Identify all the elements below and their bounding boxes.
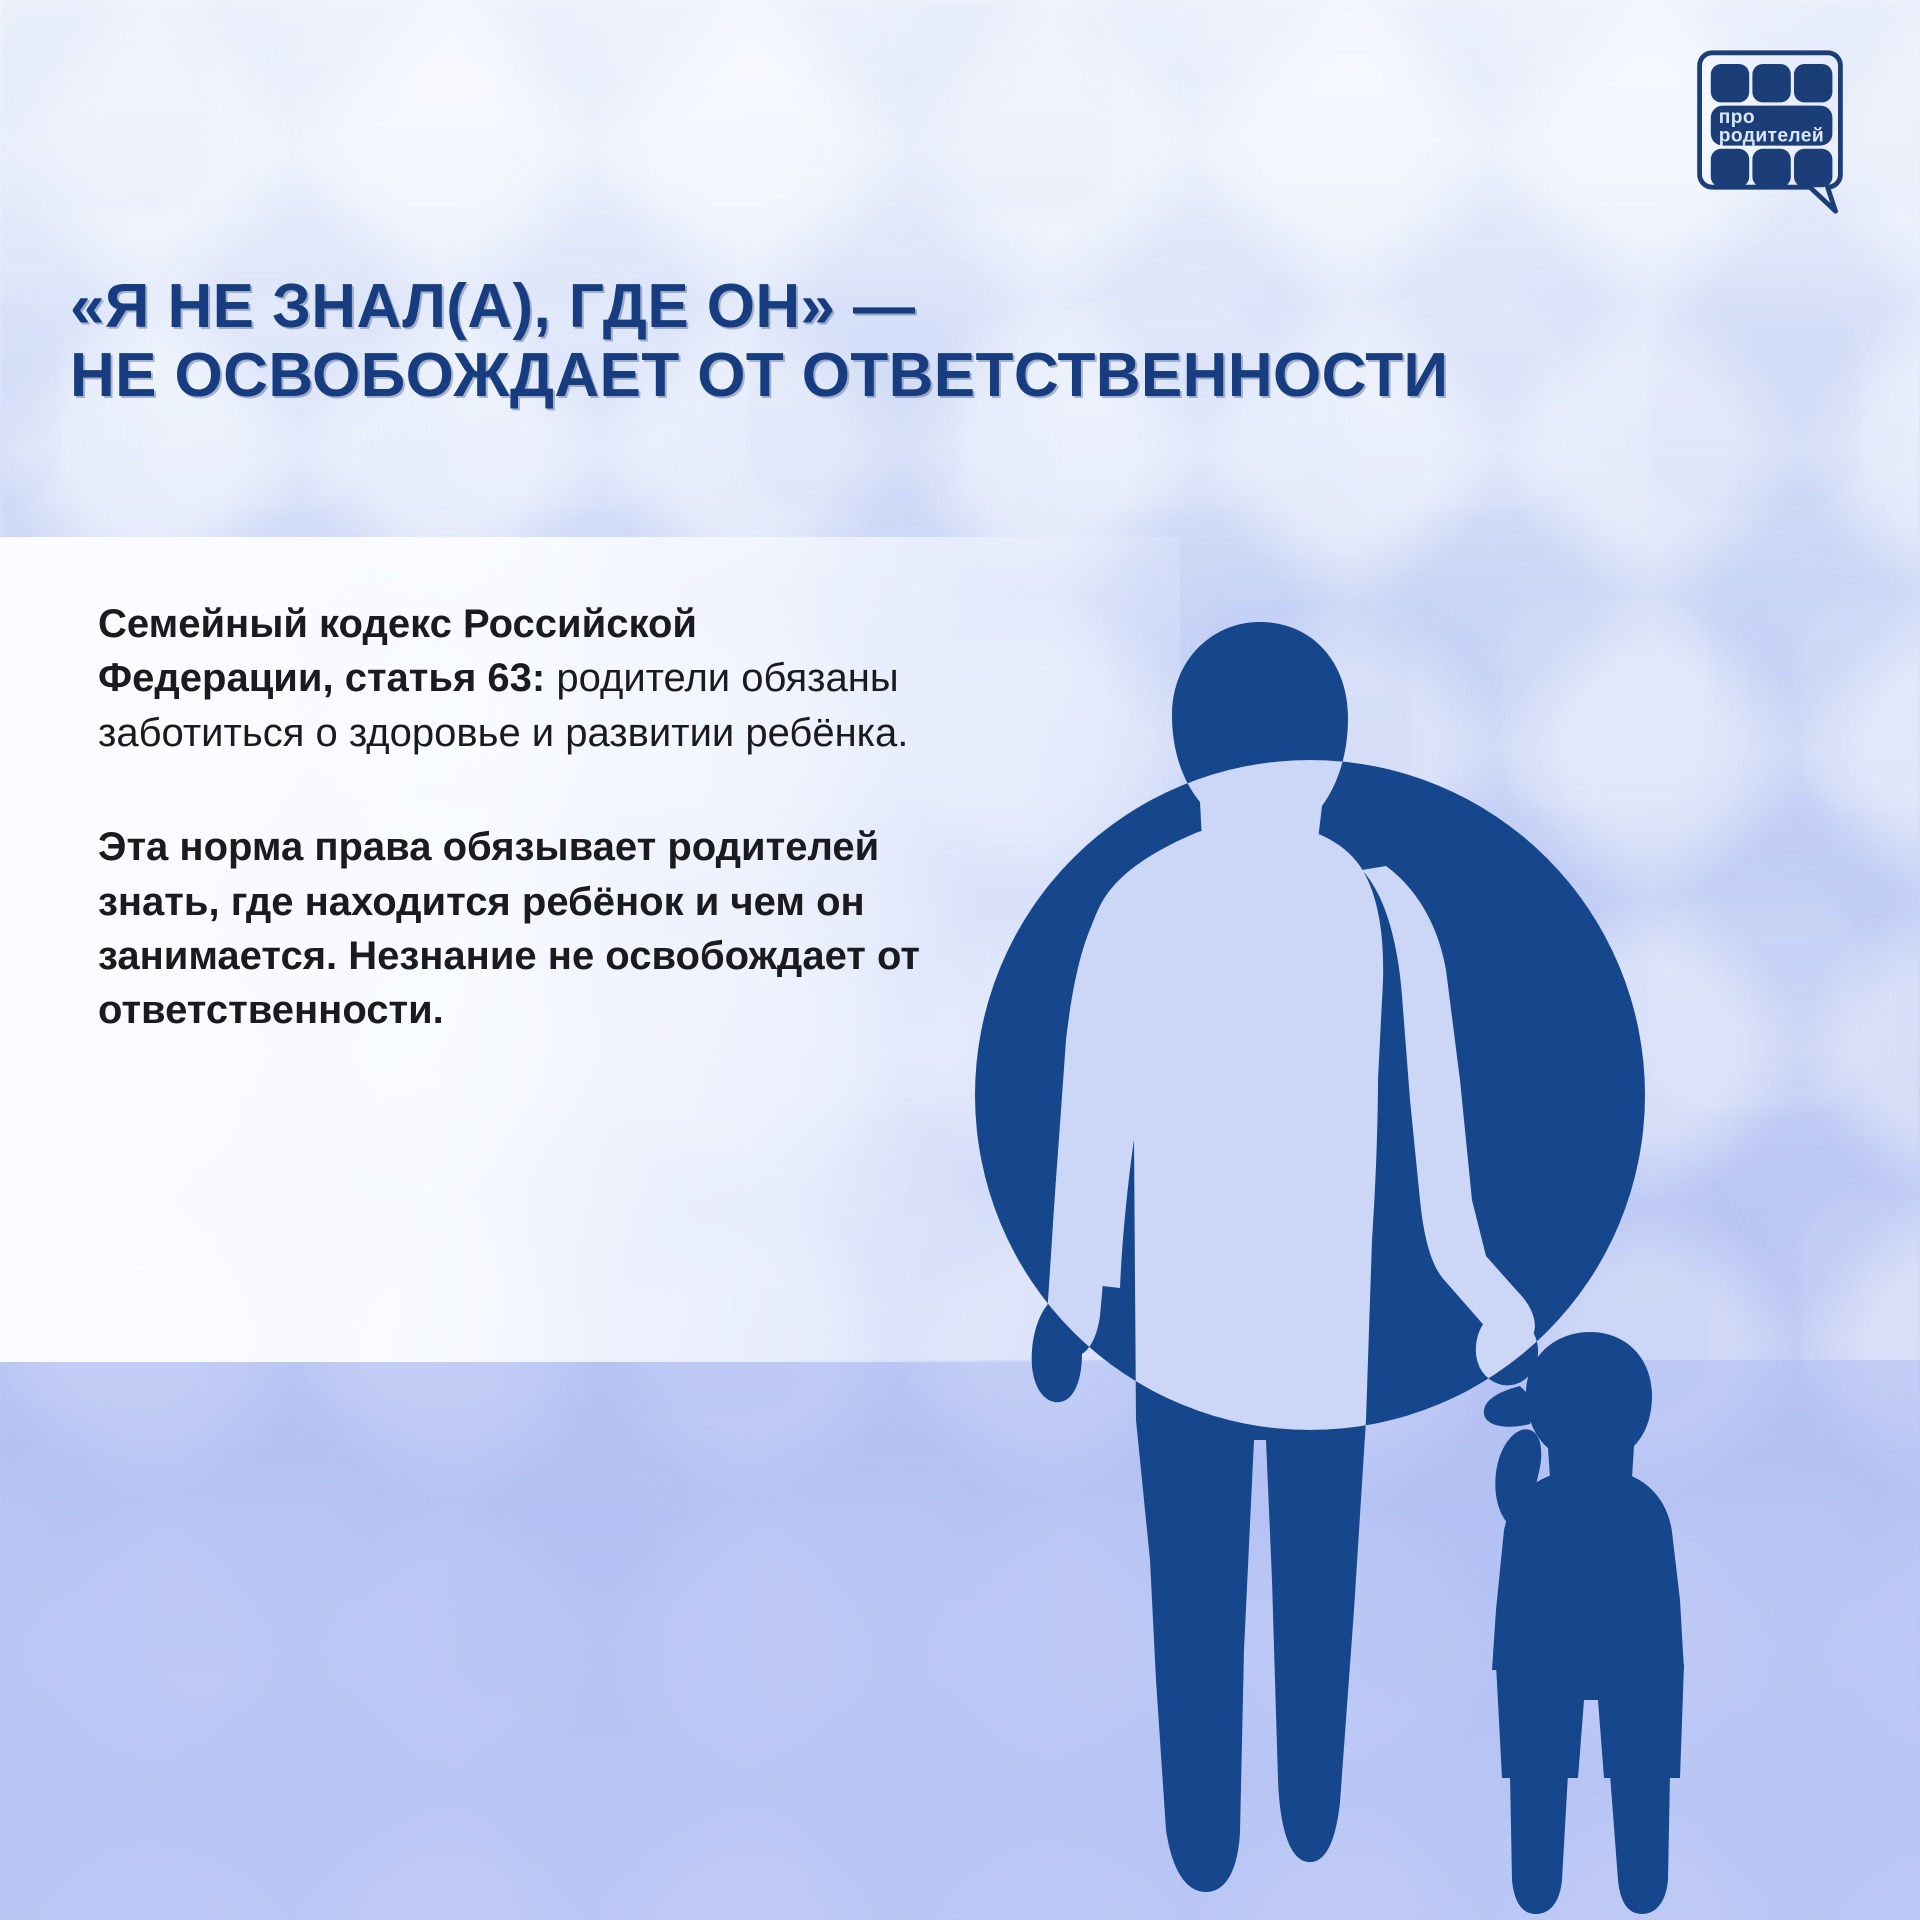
paragraph-law: Семейный кодекс Российской Федерации, ст…	[98, 597, 928, 760]
body-copy: Семейный кодекс Российской Федерации, ст…	[98, 597, 928, 1038]
paragraph-explanation: Эта норма права обязывает родителей знат…	[98, 820, 928, 1038]
page-title: «Я НЕ ЗНАЛ(А), ГДЕ ОН» — НЕ ОСВОБОЖДАЕТ …	[70, 272, 1470, 411]
brand-logo[interactable]: про родителей	[1690, 48, 1850, 208]
logo-line2: родителей	[1719, 126, 1824, 147]
headline-line-2: НЕ ОСВОБОЖДАЕТ ОТ ОТВЕТСТВЕННОСТИ	[70, 341, 1470, 410]
illustration-parent-child	[820, 540, 1920, 1920]
poster-root: про родителей «Я НЕ ЗНАЛ(А), ГДЕ ОН» — Н…	[0, 0, 1920, 1920]
headline-line-1: «Я НЕ ЗНАЛ(А), ГДЕ ОН» —	[70, 272, 1470, 341]
